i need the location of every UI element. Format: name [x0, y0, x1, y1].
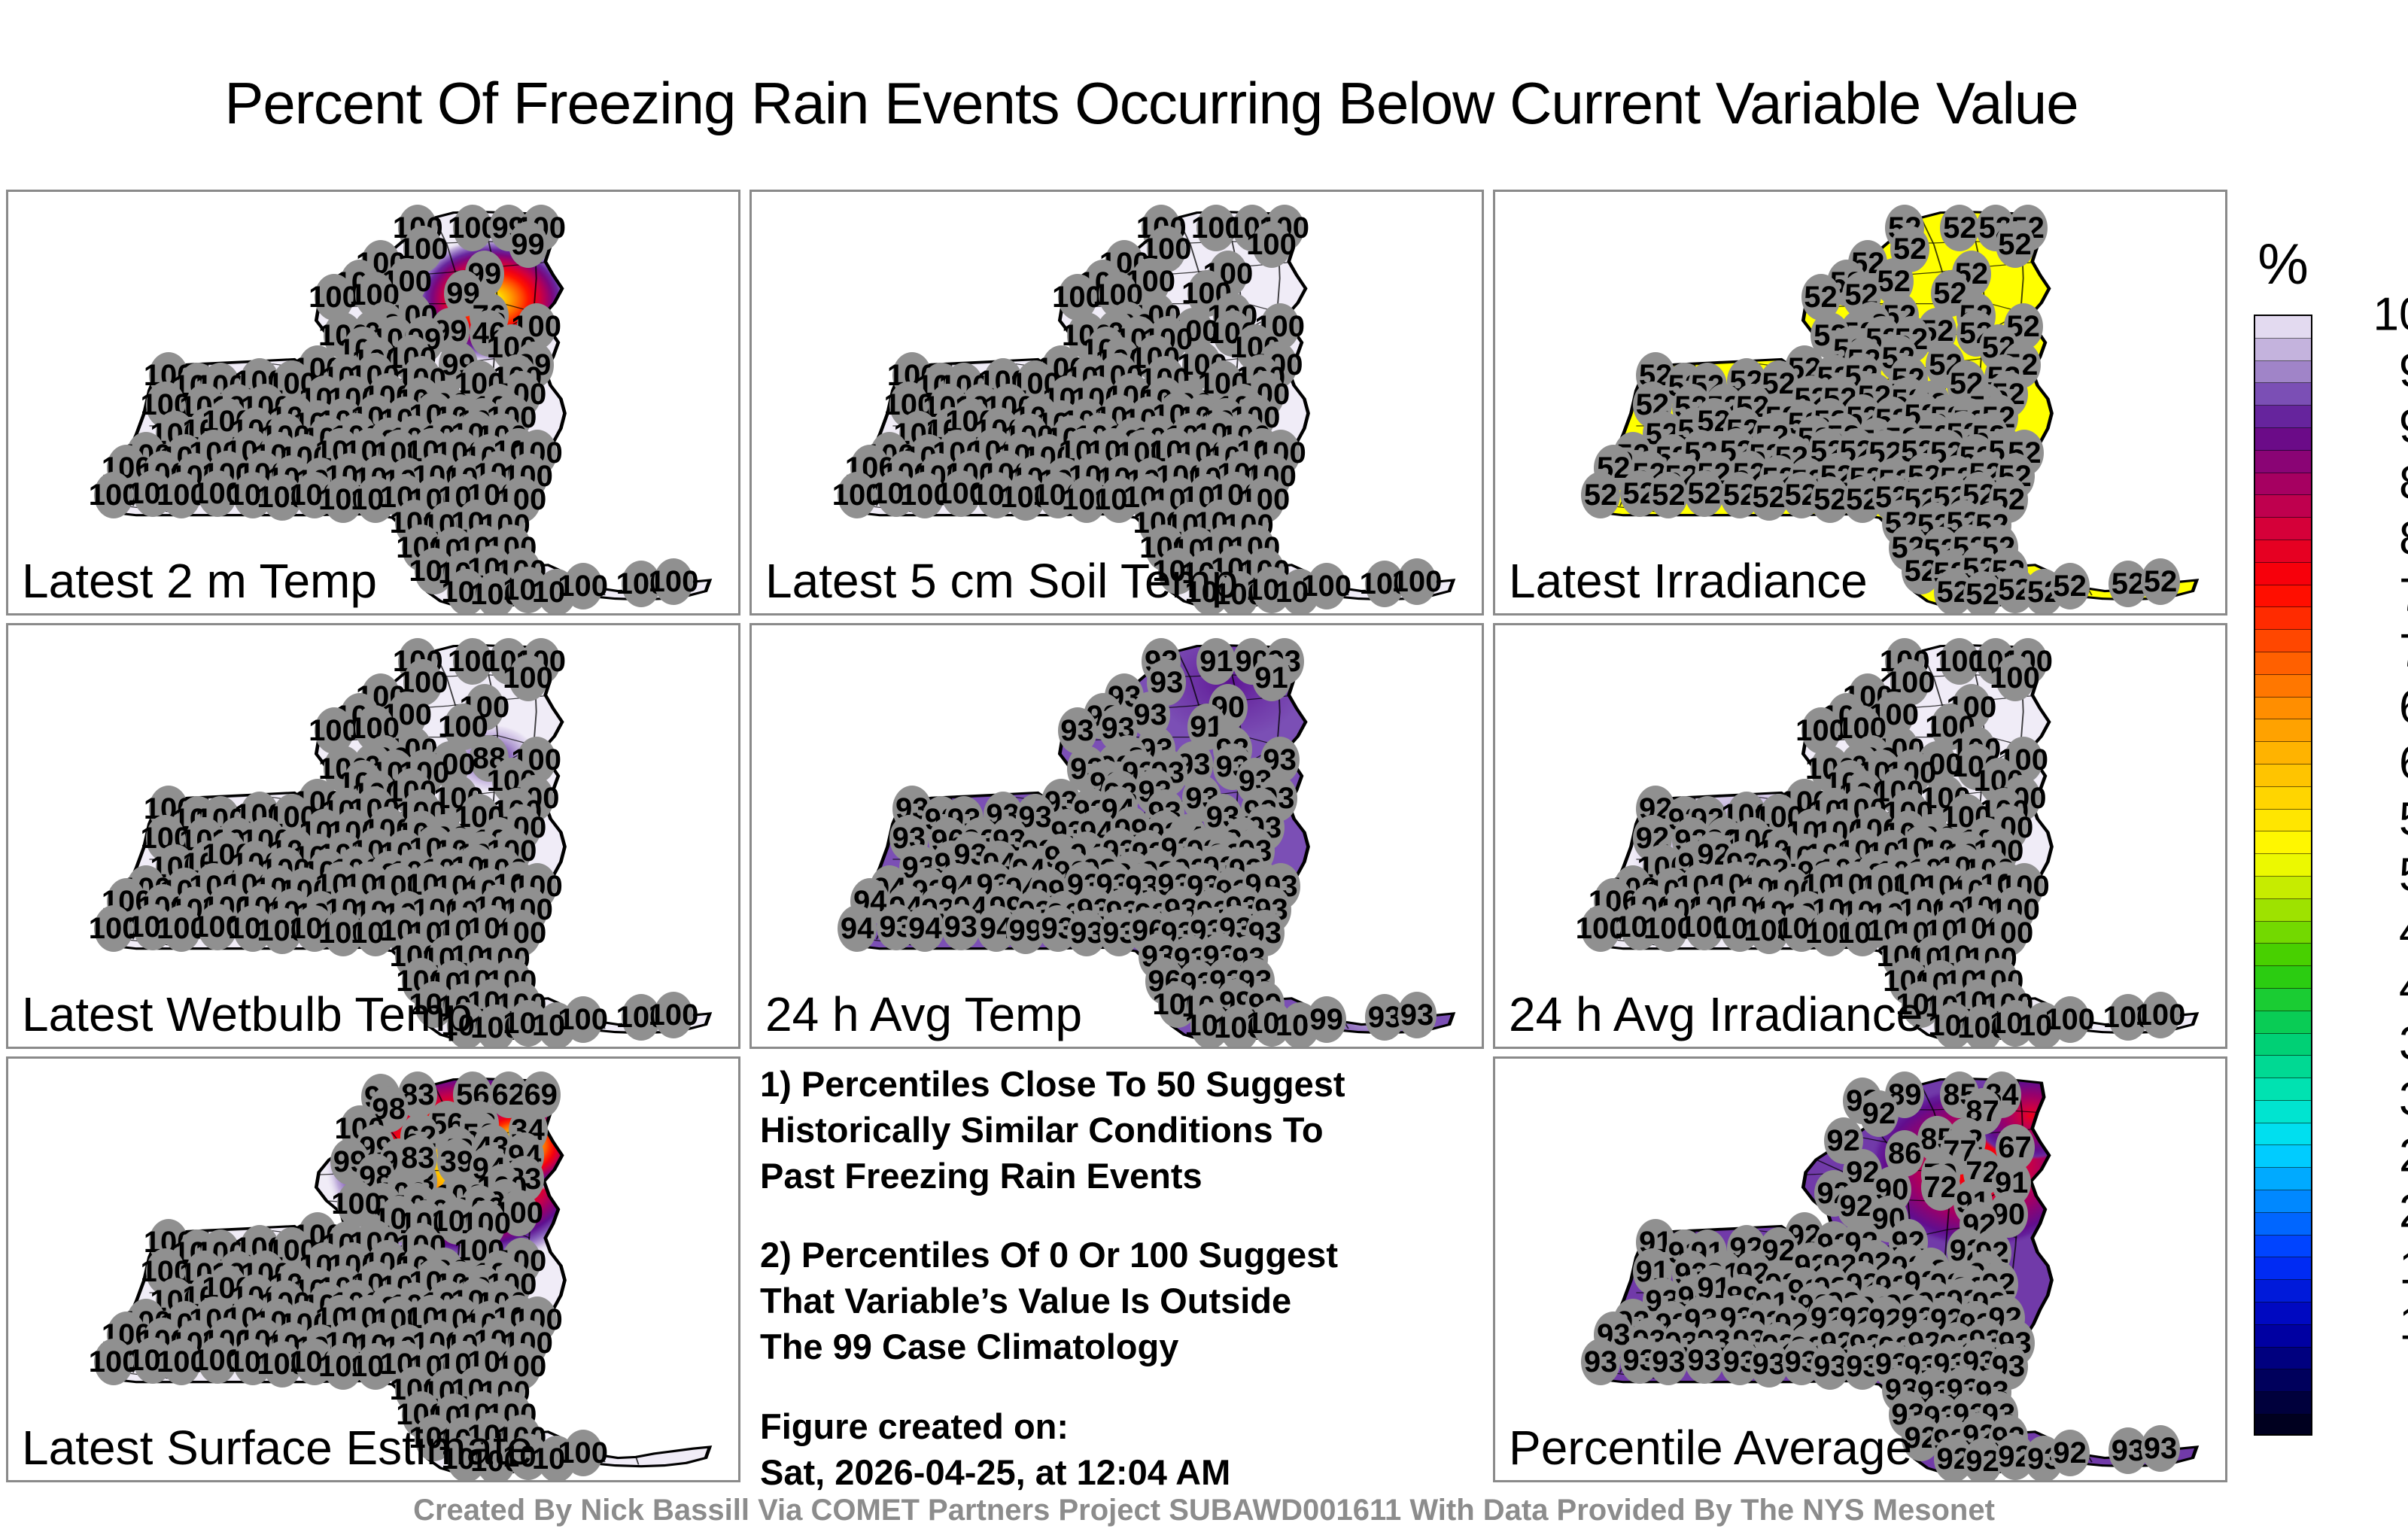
map-canvas: 1001009910010099100991001009910010010076… [8, 192, 738, 613]
station-value: 52 [1998, 229, 2032, 260]
station-value: 100 [649, 1000, 699, 1030]
station-marker[interactable]: 91 [1252, 655, 1291, 701]
station-value: 92 [1862, 1099, 1896, 1129]
station-marker[interactable]: 52 [1581, 472, 1620, 518]
station-value: 94 [841, 913, 874, 944]
colorbar-band [2255, 383, 2311, 406]
colorbar-band [2255, 1011, 2311, 1034]
colorbar-band [2255, 764, 2311, 787]
station-value: 52 [1943, 213, 1977, 243]
station-marker[interactable]: 93 [1397, 992, 1437, 1038]
station-dot: 52 [1649, 472, 1688, 518]
colorbar-tick: 40 [2323, 961, 2408, 1014]
colorbar-band [2255, 540, 2311, 563]
station-value: 52 [1966, 579, 1999, 609]
station-dot: 93 [1685, 1337, 1724, 1384]
colorbar-band [2255, 1145, 2311, 1168]
note-line: Sat, 2026-04-25, at 12:04 AM [760, 1449, 1479, 1495]
colorbar-band [2255, 316, 2311, 339]
map-panel-24h-avg-temp[interactable]: 9391909393919390939391939393939393939393… [749, 623, 1484, 1049]
station-marker[interactable]: 100 [564, 1430, 603, 1476]
colorbar-tick: 80 [2323, 512, 2408, 566]
station-dot: 52 [2141, 558, 2180, 605]
colorbar-band [2255, 1078, 2311, 1101]
colorbar-band [2255, 810, 2311, 832]
colorbar-tick: 20 [2323, 1185, 2408, 1239]
map-canvas: 8985849292878572776786927972729192909292… [1495, 1059, 2225, 1480]
note-line: 2) Percentiles Of 0 Or 100 Suggest [760, 1232, 1479, 1278]
colorbar-tick: 50 [2323, 849, 2408, 902]
station-value: 94 [908, 913, 942, 944]
station-marker[interactable]: 100 [654, 558, 693, 605]
station-dot: 52 [1581, 472, 1620, 518]
colorbar-tick: 25 [2323, 1129, 2408, 1182]
station-value: 93 [1060, 716, 1094, 746]
station-marker[interactable]: 91 [1196, 638, 1236, 685]
station-value: 69 [524, 1080, 558, 1110]
colorbar-band [2255, 473, 2311, 496]
colorbar-tick: 35 [2323, 1017, 2408, 1070]
station-value: 52 [2112, 569, 2145, 599]
station-value: 100 [558, 571, 608, 601]
station-dot: 93 [1649, 1339, 1688, 1385]
station-dot: 100 [564, 563, 603, 609]
station-value: 100 [1392, 567, 1443, 597]
station-marker[interactable]: 94 [905, 905, 944, 952]
station-value: 86 [1888, 1138, 1922, 1169]
colorbar-tick: 95 [2323, 344, 2408, 397]
station-dot: 100 [2141, 992, 2180, 1038]
colorbar-tick: 30 [2323, 1073, 2408, 1126]
colorbar-band [2255, 1415, 2311, 1436]
station-dot: 93 [1581, 1339, 1620, 1385]
panel-label-24h-avg-temp: 24 h Avg Temp [765, 986, 1082, 1042]
station-dot: 99 [509, 221, 548, 268]
station-marker[interactable]: 52 [2141, 558, 2180, 605]
station-marker[interactable]: 100 [1397, 558, 1437, 605]
colorbar-band [2255, 922, 2311, 944]
station-dot: 100 [654, 992, 693, 1038]
panel-label-24h-avg-irradiance: 24 h Avg Irradiance [1509, 986, 1923, 1042]
station-value: 93 [1814, 1351, 1847, 1381]
station-marker[interactable]: 52 [1649, 472, 1688, 518]
station-value: 100 [1990, 663, 2040, 693]
credit-footer: Created By Nick Bassill Via COMET Partne… [0, 1494, 2408, 1527]
station-dot: 100 [509, 655, 548, 701]
station-value: 93 [944, 912, 977, 942]
note-line: That Variable’s Value Is Outside [760, 1278, 1479, 1324]
colorbar-band [2255, 1056, 2311, 1078]
station-value: 100 [2045, 1005, 2095, 1035]
station-value: 99 [1008, 916, 1042, 946]
note-line: Past Freezing Rain Events [760, 1153, 1479, 1199]
station-marker[interactable]: 52 [1685, 470, 1724, 517]
station-value: 99 [1309, 1005, 1343, 1035]
colorbar-band [2255, 361, 2311, 384]
colorbar-band [2255, 1168, 2311, 1190]
station-value: 52 [1687, 479, 1721, 509]
station-value: 93 [1687, 1345, 1721, 1375]
colorbar-tick: 100 [2323, 288, 2408, 342]
colorbar-band [2255, 1325, 2311, 1348]
colorbar-tick: 55 [2323, 792, 2408, 846]
colorbar-tick: 65 [2323, 680, 2408, 734]
station-dot: 94 [905, 905, 944, 952]
station-value: 52 [2053, 571, 2087, 601]
station-marker[interactable]: 93 [1581, 1339, 1620, 1385]
panel-label-latest-5cm-soil-temp: Latest 5 cm Soil Temp [765, 553, 1238, 609]
station-dot: 92 [2051, 1430, 2090, 1476]
station-dot: 100 [1397, 558, 1437, 605]
colorbar-band [2255, 1034, 2311, 1056]
colorbar-band [2255, 1190, 2311, 1213]
station-value: 93 [1652, 1347, 1686, 1377]
colorbar-band [2255, 787, 2311, 810]
panel-label-latest-irradiance: Latest Irradiance [1509, 553, 1868, 609]
page-title: Percent Of Freezing Rain Events Occurrin… [0, 69, 2303, 138]
map-canvas: 1001001001001001001001001001001001001001… [8, 625, 738, 1047]
station-value: 83 [401, 1143, 435, 1173]
map-panel-latest-5cm-soil-temp[interactable]: 1001001001001001001001001001001001001001… [749, 190, 1484, 616]
map-canvas: 1001001001001001001001001001001001001001… [752, 192, 1482, 613]
colorbar-band [2255, 944, 2311, 966]
map-panel-24h-avg-irradiance[interactable]: 1001001001001001001001001001001001001001… [1493, 623, 2227, 1049]
map-panel-latest-irradiance[interactable]: 5252525252525252525252525252525252525252… [1493, 190, 2227, 616]
colorbar-band [2255, 585, 2311, 608]
panel-label-latest-surface-estimate: Latest Surface Estimate [22, 1420, 533, 1476]
colorbar-band [2255, 698, 2311, 720]
colorbar-tick: 45 [2323, 904, 2408, 958]
colorbar-band [2255, 1123, 2311, 1146]
station-value: 100 [558, 1005, 608, 1035]
colorbar-band [2255, 742, 2311, 764]
station-dot: 100 [1996, 655, 2035, 701]
station-marker[interactable]: 99 [509, 221, 548, 268]
station-marker[interactable]: 100 [564, 563, 603, 609]
station-dot: 94 [838, 905, 877, 952]
station-marker[interactable]: 94 [838, 905, 877, 952]
station-dot: 100 [654, 558, 693, 605]
station-dot: 100 [564, 1430, 603, 1476]
station-value: 93 [1400, 1000, 1434, 1030]
colorbar-band [2255, 719, 2311, 742]
station-value: 99 [511, 229, 545, 260]
station-marker[interactable]: 100 [509, 655, 548, 701]
colorbar-tick-labels: 1009590858075706560555045403530252015105… [2323, 315, 2408, 1436]
colorbar-band [2255, 630, 2311, 652]
colorbar-band [2255, 1236, 2311, 1258]
station-dot: 52 [2051, 563, 2090, 609]
colorbar-band [2255, 652, 2311, 675]
station-marker[interactable]: 52 [2051, 563, 2090, 609]
station-value: 52 [2144, 567, 2178, 597]
station-marker[interactable]: 100 [654, 992, 693, 1038]
station-marker[interactable]: 100 [2051, 996, 2090, 1043]
station-value: 91 [1254, 663, 1288, 693]
colorbar-band [2255, 989, 2311, 1011]
station-dot: 93 [1397, 992, 1437, 1038]
station-value: 93 [1752, 1349, 1786, 1379]
panel-label-percentile-average: Percentile Average [1509, 1420, 1912, 1476]
station-marker[interactable]: 100 [1996, 655, 2035, 701]
station-value: 92 [1840, 1191, 1874, 1221]
station-dot: 93 [941, 904, 981, 950]
colorbar-band [2255, 1348, 2311, 1370]
colorbar-tick: 60 [2323, 737, 2408, 790]
station-dot: 100 [453, 205, 492, 251]
station-marker[interactable]: 100 [1307, 563, 1346, 609]
colorbar-tick: 10 [2323, 1297, 2408, 1351]
station-value: 93 [1368, 1002, 1402, 1032]
station-dot: 93 [2141, 1425, 2180, 1472]
colorbar-band [2255, 339, 2311, 361]
colorbar-band [2255, 1101, 2311, 1123]
station-value: 52 [1804, 282, 1838, 312]
station-value: 92 [1966, 1446, 1999, 1476]
colorbar-tick: 0 [2323, 1409, 2408, 1463]
station-marker[interactable]: 52 [1940, 205, 1979, 251]
station-value: 93 [2112, 1436, 2145, 1466]
station-value: 93 [1070, 918, 1104, 948]
station-dot: 100 [564, 996, 603, 1043]
colorbar-tick: 75 [2323, 568, 2408, 622]
station-value: 100 [1301, 571, 1351, 601]
colorbar-tick: 5 [2323, 1353, 2408, 1406]
colorbar-unit-label: % [2246, 232, 2320, 297]
station-value: 52 [1584, 480, 1618, 510]
station-value: 93 [2144, 1433, 2178, 1464]
map-panel-latest-2m-temp[interactable]: 1001009910010099100991001009910010010076… [6, 190, 740, 616]
station-value: 100 [558, 1438, 608, 1468]
map-canvas: 9391909393919390939391939393939393939393… [752, 625, 1482, 1047]
station-dot: 52 [1685, 470, 1724, 517]
colorbar-band [2255, 877, 2311, 899]
colorbar-band [2255, 518, 2311, 540]
colorbar-band [2255, 1392, 2311, 1415]
colorbar-band [2255, 406, 2311, 428]
station-value: 52 [1752, 482, 1786, 512]
station-value: 52 [1814, 485, 1847, 515]
station-value: 91 [1199, 646, 1233, 676]
colorbar-band [2255, 675, 2311, 698]
station-marker[interactable]: 93 [941, 904, 981, 950]
station-marker[interactable]: 92 [2051, 1430, 2090, 1476]
station-dot: 52 [1996, 221, 2035, 268]
notes-block: 1) Percentiles Close To 50 SuggestHistor… [760, 1061, 1479, 1487]
colorbar-band [2255, 451, 2311, 473]
map-canvas: 5252525252525252525252525252525252525252… [1495, 192, 2225, 613]
station-value: 52 [1652, 480, 1686, 510]
colorbar-band [2255, 607, 2311, 630]
map-canvas: 8356626999985643563462100433943949990999… [8, 1059, 738, 1480]
station-marker[interactable]: 52 [1996, 221, 2035, 268]
colorbar-band [2255, 428, 2311, 451]
station-value: 100 [2136, 1000, 2186, 1030]
note-line: 1) Percentiles Close To 50 Suggest [760, 1061, 1479, 1107]
station-marker[interactable]: 100 [2141, 992, 2180, 1038]
station-marker[interactable]: 100 [1252, 221, 1291, 268]
colorbar-band [2255, 495, 2311, 518]
station-marker[interactable]: 93 [2141, 1425, 2180, 1472]
map-panel-latest-surface-estimate[interactable]: 8356626999985643563462100433943949990999… [6, 1056, 740, 1482]
station-dot: 91 [1196, 638, 1236, 685]
colorbar-band [2255, 1280, 2311, 1302]
panel-label-latest-wetbulb-temp: Latest Wetbulb Temp [22, 986, 473, 1042]
colorbar-band [2255, 966, 2311, 989]
station-value: 100 [649, 567, 699, 597]
station-marker[interactable]: 93 [1649, 1339, 1688, 1385]
colorbar-tick: 70 [2323, 625, 2408, 678]
station-marker[interactable]: 93 [1685, 1337, 1724, 1384]
colorbar-band [2255, 1302, 2311, 1325]
colorbar-band [2255, 854, 2311, 877]
station-dot: 100 [1307, 563, 1346, 609]
station-value: 100 [1246, 229, 1297, 260]
map-panel-percentile-average[interactable]: 8985849292878572776786927972729192909292… [1493, 1056, 2227, 1482]
colorbar-band [2255, 831, 2311, 854]
station-dot: 91 [1252, 655, 1291, 701]
note-line: Figure created on: [760, 1403, 1479, 1449]
station-marker[interactable]: 99 [1307, 996, 1346, 1043]
station-marker[interactable]: 100 [564, 996, 603, 1043]
map-panel-latest-wetbulb-temp[interactable]: 1001001001001001001001001001001001001001… [6, 623, 740, 1049]
station-dot: 52 [1940, 205, 1979, 251]
map-canvas: 1001001001001001001001001001001001001001… [1495, 625, 2225, 1047]
panel-label-latest-2m-temp: Latest 2 m Temp [22, 553, 377, 609]
station-dot: 99 [1307, 996, 1346, 1043]
colorbar-band [2255, 563, 2311, 585]
colorbar-tick: 85 [2323, 456, 2408, 509]
station-marker[interactable]: 100 [453, 205, 492, 251]
colorbar-band [2255, 1257, 2311, 1280]
colorbar-band [2255, 1213, 2311, 1236]
colorbar[interactable] [2254, 315, 2312, 1436]
colorbar-band [2255, 899, 2311, 922]
colorbar-tick: 15 [2323, 1241, 2408, 1294]
station-value: 72 [1923, 1172, 1957, 1202]
station-value: 92 [2053, 1438, 2087, 1468]
station-dot: 100 [2051, 996, 2090, 1043]
station-value: 100 [503, 663, 553, 693]
station-value: 93 [1584, 1347, 1618, 1377]
colorbar-tick: 90 [2323, 400, 2408, 454]
station-dot: 100 [1252, 221, 1291, 268]
colorbar-band [2255, 1369, 2311, 1392]
note-line: Historically Similar Conditions To [760, 1107, 1479, 1153]
note-line: The 99 Case Climatology [760, 1324, 1479, 1369]
station-value: 67 [1998, 1132, 2032, 1163]
